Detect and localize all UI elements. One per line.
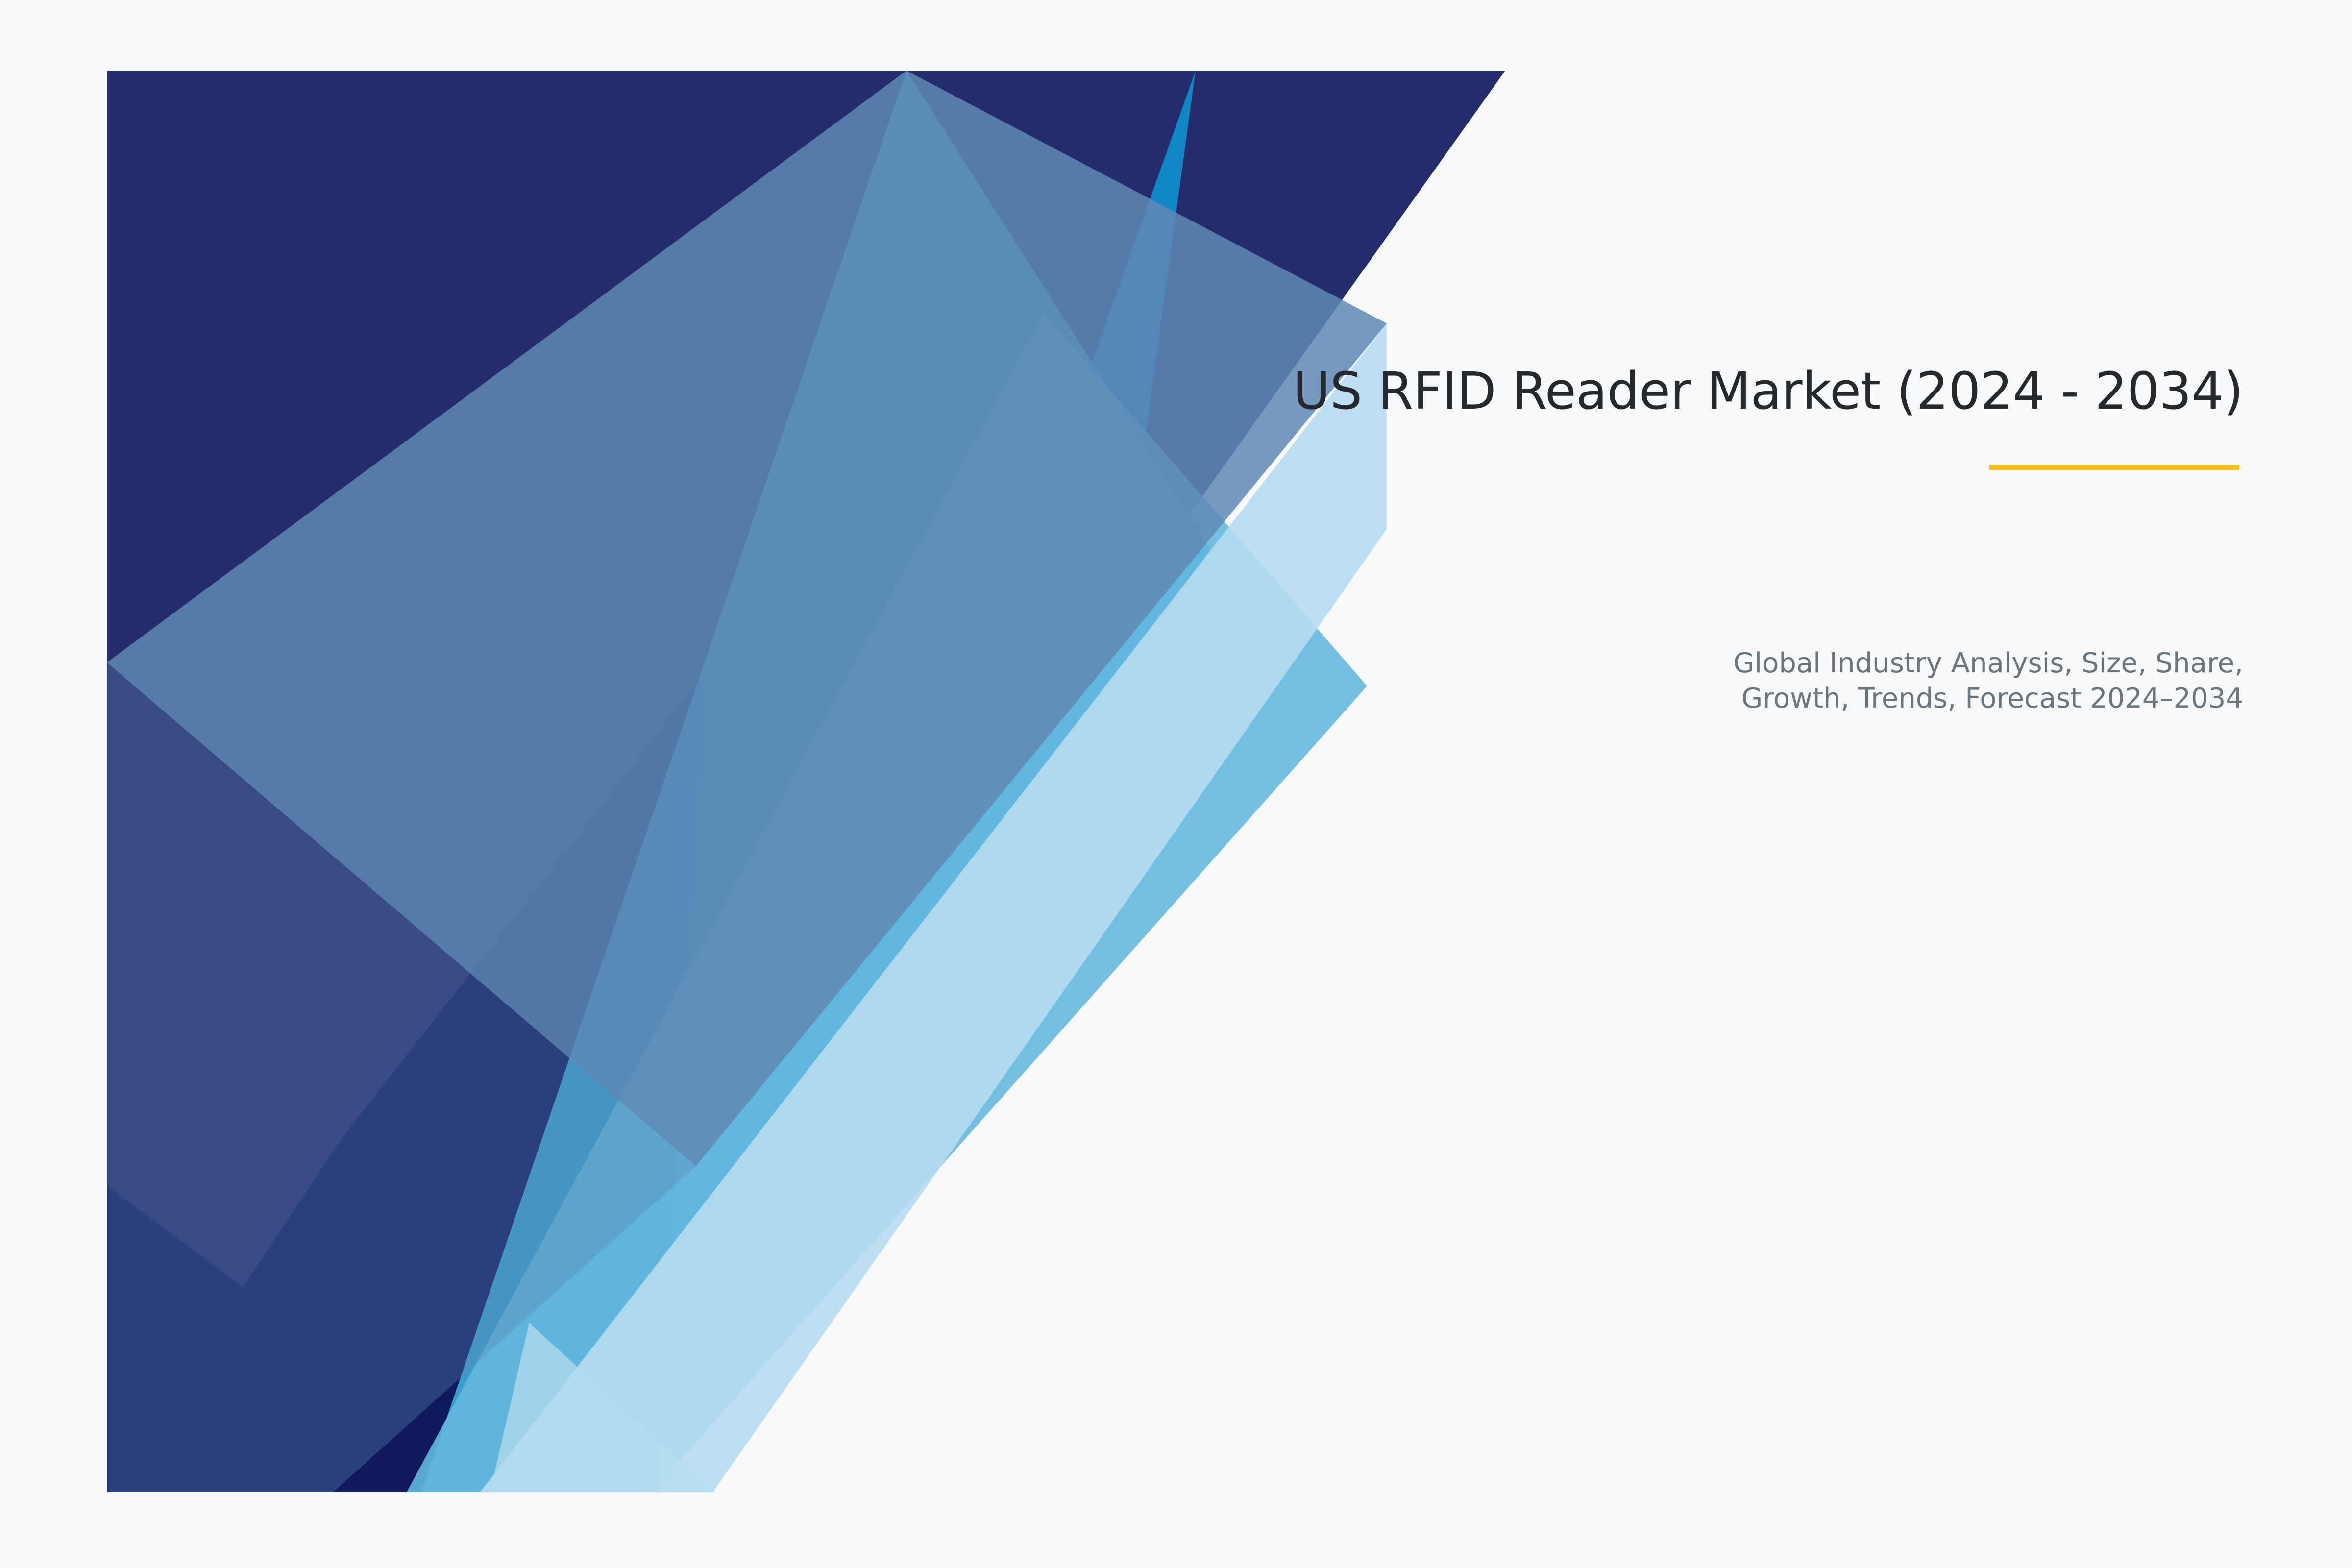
navy-top-triangle-shape [107, 71, 1505, 1492]
pale-blue-panel-shape [480, 323, 1387, 1492]
title-block: US RFID Reader Market (2024 - 2034) [577, 363, 2243, 470]
abstract-geometric-artwork [0, 0, 2352, 1568]
slate-blue-spike-shape [107, 662, 696, 1492]
deep-navy-bottom-sliver-shape [107, 1186, 519, 1492]
subtitle-line-1: Global Industry Analysis, Size, Share, [969, 646, 2243, 681]
sky-blue-band-shape [407, 314, 1367, 1492]
deep-navy-lower-wedge-shape [107, 669, 708, 1492]
subtitle-line-2: Growth, Trends, Forecast 2024–2034 [969, 681, 2243, 716]
slate-blue-overlay-shape [107, 71, 1387, 1166]
pale-blue-tail-shape [490, 1323, 715, 1492]
amber-accent-rule [1989, 465, 2239, 470]
subtitle-block: Global Industry Analysis, Size, Share, G… [969, 646, 2243, 716]
mid-blue-diagonal-band-shape [421, 71, 1210, 1492]
page-title: US RFID Reader Market (2024 - 2034) [577, 363, 2243, 419]
report-cover-page: US RFID Reader Market (2024 - 2034) Glob… [0, 0, 2352, 1568]
